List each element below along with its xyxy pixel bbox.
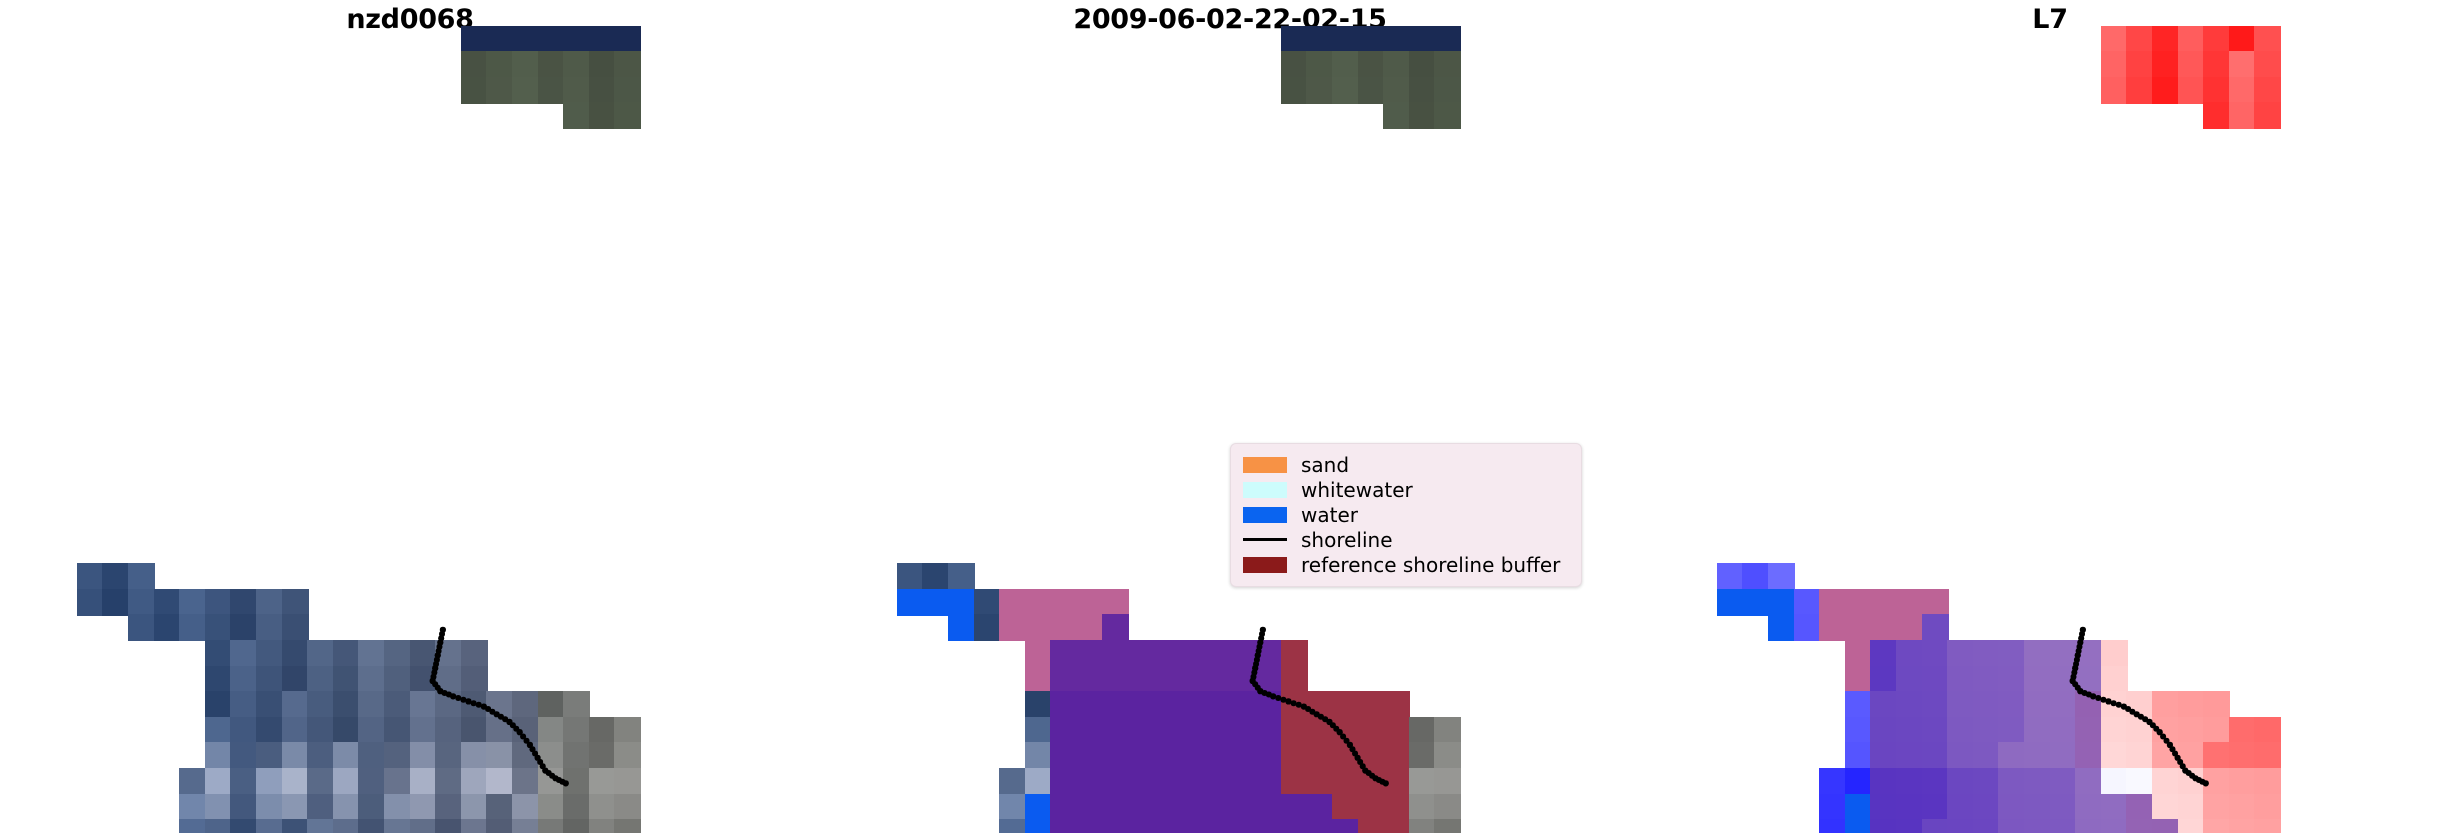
legend-item-shoreline: shoreline (1243, 527, 1571, 552)
whitewater-swatch-icon (1243, 482, 1287, 498)
legend-label-shoreline: shoreline (1301, 530, 1393, 550)
legend-item-whitewater: whitewater (1243, 477, 1571, 502)
shoreline-line-icon (1243, 538, 1287, 541)
reference-buffer-swatch-icon (1243, 557, 1287, 573)
legend-label-whitewater: whitewater (1301, 480, 1413, 500)
panel-index-map: L7 (1640, 0, 2460, 833)
legend-item-sand: sand (1243, 452, 1571, 477)
legend-box: sand whitewater water shoreline referenc… (1230, 443, 1582, 587)
legend-item-water: water (1243, 502, 1571, 527)
legend-item-reference-buffer: reference shoreline buffer (1243, 552, 1571, 577)
legend-label-reference-buffer: reference shoreline buffer (1301, 555, 1560, 575)
legend-label-water: water (1301, 505, 1358, 525)
panel-rgb-composite: nzd0068 (0, 0, 820, 833)
raster-classification-image (820, 0, 1640, 833)
sand-swatch-icon (1243, 457, 1287, 473)
raster-rgb-image (0, 0, 820, 833)
raster-index-image (1640, 0, 2460, 833)
legend-label-sand: sand (1301, 455, 1349, 475)
water-swatch-icon (1243, 507, 1287, 523)
panel-classification: 2009-06-02-22-02-15 (820, 0, 1640, 833)
figure-canvas: nzd0068 2009-06-02-22-02-15 L7 sand whit… (0, 0, 2460, 833)
